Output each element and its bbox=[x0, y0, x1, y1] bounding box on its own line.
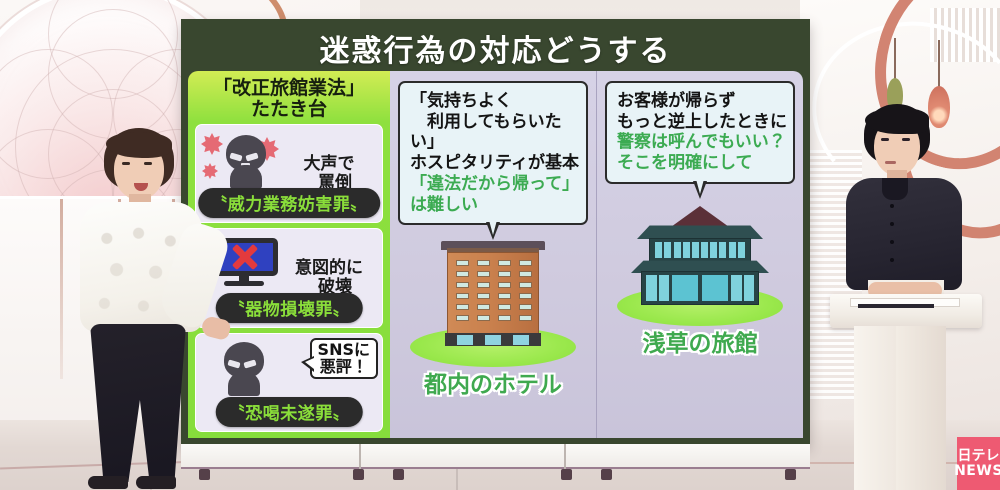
quote-line: ホスピタリティが基本 bbox=[410, 153, 580, 174]
broadcaster-logo: 日テレ NEWS bbox=[957, 437, 1000, 490]
ryokan-place-label: 浅草の旅館 bbox=[643, 324, 758, 358]
board-caster bbox=[353, 469, 364, 480]
person-silhouette-icon bbox=[215, 342, 273, 396]
sns-bubble-line1: SNSに bbox=[318, 341, 370, 358]
speech-bubble-tail bbox=[301, 356, 314, 372]
left-panel-heading-line1: 「改正旅館業法」 bbox=[213, 77, 365, 99]
board-title: 迷惑行為の対応どうする bbox=[320, 26, 672, 70]
speech-bubble-tail bbox=[486, 222, 500, 240]
studio-screenshot: 迷惑行為の対応どうする 「改正旅館業法」 たたき台 bbox=[0, 0, 1000, 490]
hotel-quote-bubble: 「気持ちよく 利用してもらいたい」 ホスピタリティが基本 「違法だから帰って」 … bbox=[398, 81, 588, 225]
hotel-building-icon bbox=[441, 241, 545, 349]
presentation-board[interactable]: 迷惑行為の対応どうする 「改正旅館業法」 たたき台 bbox=[181, 19, 810, 444]
logo-line-1: 日テレ bbox=[958, 449, 1000, 463]
board-caster bbox=[601, 469, 612, 480]
quote-line-highlight: は難しい bbox=[410, 195, 580, 216]
angry-person-silhouette-icon bbox=[217, 135, 275, 189]
pendant-light-coral bbox=[938, 40, 940, 88]
board-base bbox=[181, 444, 810, 469]
crime-badge: 〝恐喝未遂罪〟 bbox=[216, 397, 363, 427]
ryokan-quote-bubble: お客様が帰らず もっと逆上したときに 警察は呼んでもいい？ そこを明確にして bbox=[605, 81, 795, 184]
quote-line-highlight: そこを明確にして bbox=[617, 153, 787, 174]
board-panels: 「改正旅館業法」 たたき台 bbox=[188, 71, 803, 438]
offense-label-line1: 意図的に bbox=[283, 259, 375, 278]
offense-label-line1: 大声で bbox=[283, 155, 375, 174]
crime-badge: 〝威力業務妨害罪〟 bbox=[198, 188, 380, 218]
board-caster bbox=[393, 469, 404, 480]
quote-line: お客様が帰らず bbox=[617, 91, 787, 112]
hotel-place-label: 都内のホテル bbox=[424, 365, 562, 399]
board-caster bbox=[561, 469, 572, 480]
pendant-light-olive bbox=[894, 38, 896, 80]
offense-card-sns-defamation[interactable]: SNSに 悪評！ 〝恐喝未遂罪〟 bbox=[195, 333, 383, 432]
hotel-illustration-group: 都内のホテル bbox=[398, 255, 588, 383]
quote-line: もっと逆上したときに bbox=[617, 112, 787, 133]
quote-line: 「気持ちよく bbox=[410, 91, 580, 112]
board-caster bbox=[785, 469, 796, 480]
sns-bubble-line2: 悪評！ bbox=[318, 358, 370, 375]
logo-line-2: NEWS bbox=[954, 464, 1000, 478]
quote-line-highlight: 「違法だから帰って」 bbox=[410, 174, 580, 195]
left-panel-heading-line2: たたき台 bbox=[195, 99, 383, 120]
panel-tokyo-hotel[interactable]: 「気持ちよく 利用してもらいたい」 ホスピタリティが基本 「違法だから帰って」 … bbox=[390, 71, 596, 438]
speech-bubble-tail bbox=[693, 181, 707, 199]
ryokan-building-icon bbox=[631, 206, 769, 310]
presenter-right bbox=[834, 104, 984, 490]
offense-card-shouting[interactable]: 大声で 罵倒 〝威力業務妨害罪〟 bbox=[195, 124, 383, 223]
panel-asakusa-ryokan[interactable]: お客様が帰らず もっと逆上したときに 警察は呼んでもいい？ そこを明確にして bbox=[596, 71, 803, 438]
board-header: 迷惑行為の対応どうする bbox=[188, 25, 803, 71]
ryokan-illustration-group: 浅草の旅館 bbox=[605, 214, 795, 342]
presenter-left bbox=[62, 128, 212, 490]
crime-badge: 〝器物損壊罪〟 bbox=[216, 293, 363, 323]
sns-speech-bubble: SNSに 悪評！ bbox=[310, 338, 378, 380]
quote-line-highlight: 警察は呼んでもいい？ bbox=[617, 132, 787, 153]
left-panel-heading: 「改正旅館業法」 たたき台 bbox=[195, 76, 383, 119]
quote-line: 利用してもらいたい」 bbox=[410, 112, 580, 153]
